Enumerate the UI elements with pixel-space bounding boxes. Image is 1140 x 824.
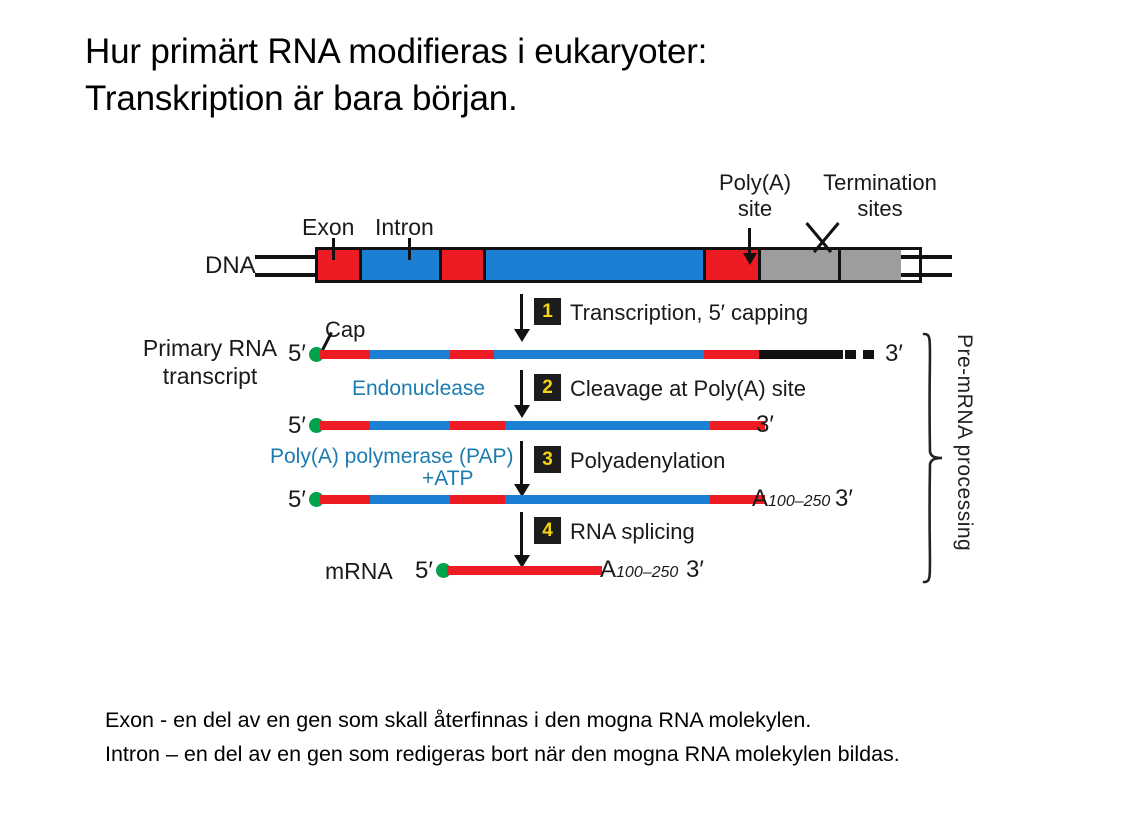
cleaved-transcript-5-prime: 5′ [288, 412, 306, 440]
termination-label-line-1: Termination [820, 170, 940, 196]
polya-label-line-1: Poly(A) [700, 170, 810, 196]
primary-transcript-label-line-1: Primary RNA [135, 334, 285, 362]
mrna-polya-subscript: 100–250 [616, 564, 678, 581]
dna-segment-termination [838, 250, 901, 280]
polya-site-label: Poly(A) site [700, 170, 810, 222]
cleaved-transcript-bar [320, 421, 765, 430]
cleaved-transcript-segment-intron [370, 421, 450, 430]
polya-subscript: 100–250 [768, 493, 830, 510]
atp-label: +ATP [422, 467, 474, 491]
step-3-arrow-icon [520, 441, 523, 485]
primary-transcript-3-prime: 3′ [885, 340, 903, 368]
dna-segment-termination [758, 250, 838, 280]
cleaved-transcript-segment-intron [505, 421, 710, 430]
cleaved-transcript-3-prime: 3′ [756, 411, 774, 439]
primary-rna-transcript-segment-exon [704, 350, 759, 359]
step-4-badge: 4 [534, 517, 561, 544]
caption-line-1: Exon - en del av en gen som skall återfi… [105, 703, 1065, 737]
cap-label: Cap [325, 317, 365, 343]
intron-label: Intron [375, 214, 434, 241]
cleaved-transcript-segment-exon [450, 421, 505, 430]
intron-leader-line [408, 238, 411, 260]
mature-mrna-segment-exon [447, 566, 602, 575]
termination-peak-icon [803, 225, 869, 253]
step-1-label: Transcription, 5′ capping [570, 300, 808, 326]
step-3-badge: 3 [534, 446, 561, 473]
termination-label-line-2: sites [820, 196, 940, 222]
primary-transcript-row-label: Primary RNA transcript [135, 334, 285, 390]
dna-row-label: DNA [205, 252, 256, 280]
step-4-arrow-icon [520, 512, 523, 556]
polyadenylated-transcript-polya: A100–250 [752, 485, 830, 513]
dna-segment-intron [483, 250, 703, 280]
polya-a-letter: A [752, 485, 768, 512]
exon-label: Exon [302, 214, 354, 241]
polya-label-line-2: site [700, 196, 810, 222]
polyadenylated-transcript-5-prime: 5′ [288, 486, 306, 514]
step-2-label: Cleavage at Poly(A) site [570, 376, 806, 402]
caption-line-2: Intron – en del av en gen som redigeras … [105, 737, 1065, 771]
exon-leader-line [332, 238, 335, 260]
step-3-label: Polyadenylation [570, 448, 725, 474]
polyadenylated-transcript-segment-exon [450, 495, 505, 504]
mrna-5-prime: 5′ [415, 557, 433, 585]
primary-transcript-dashes [827, 350, 874, 359]
pre-mrna-processing-label: Pre-mRNA processing [952, 334, 976, 551]
polyadenylated-transcript-3-prime: 3′ [835, 485, 853, 513]
pre-mrna-processing-bracket [922, 332, 944, 584]
mrna-polya-a-letter: A [600, 556, 616, 583]
step-2-badge: 2 [534, 374, 561, 401]
primary-transcript-5-prime: 5′ [288, 340, 306, 368]
primary-transcript-bar [320, 350, 843, 359]
polyadenylated-transcript-segment-intron [505, 495, 710, 504]
endonuclease-label: Endonuclease [352, 377, 485, 401]
primary-rna-transcript-segment-intron [494, 350, 704, 359]
polya-site-arrow-icon [748, 228, 751, 254]
primary-rna-transcript-segment-exon [450, 350, 494, 359]
polyadenylated-transcript-segment-intron [370, 495, 450, 504]
step-2-arrow-icon [520, 370, 523, 406]
step-1-badge: 1 [534, 298, 561, 325]
pap-enzyme-label: Poly(A) polymerase (PAP) [270, 445, 514, 469]
step-4-label: RNA splicing [570, 519, 695, 545]
polyadenylated-transcript-bar [320, 495, 765, 504]
mrna-row-label: mRNA [325, 558, 393, 585]
slide: Hur primärt RNA modifieras i eukaryoter:… [0, 0, 1140, 824]
dna-segment-intron [359, 250, 439, 280]
polyadenylated-transcript-segment-exon [320, 495, 370, 504]
caption: Exon - en del av en gen som skall återfi… [105, 703, 1065, 771]
mrna-bar [447, 566, 602, 575]
rna-processing-diagram: DNA Exon Intron Poly(A) site Termination… [0, 0, 1140, 824]
primary-transcript-label-line-2: transcript [135, 362, 285, 390]
dna-segment-exon [439, 250, 483, 280]
primary-rna-transcript-segment-intron [370, 350, 450, 359]
step-1-arrow-icon [520, 294, 523, 330]
mrna-3-prime: 3′ [686, 556, 704, 584]
primary-rna-transcript-segment-exon [320, 350, 370, 359]
dna-left-strand-lines [255, 254, 317, 278]
cleaved-transcript-segment-exon [320, 421, 370, 430]
termination-sites-label: Termination sites [820, 170, 940, 222]
mrna-polya: A100–250 [600, 556, 678, 584]
dna-segment-exon [318, 250, 359, 280]
